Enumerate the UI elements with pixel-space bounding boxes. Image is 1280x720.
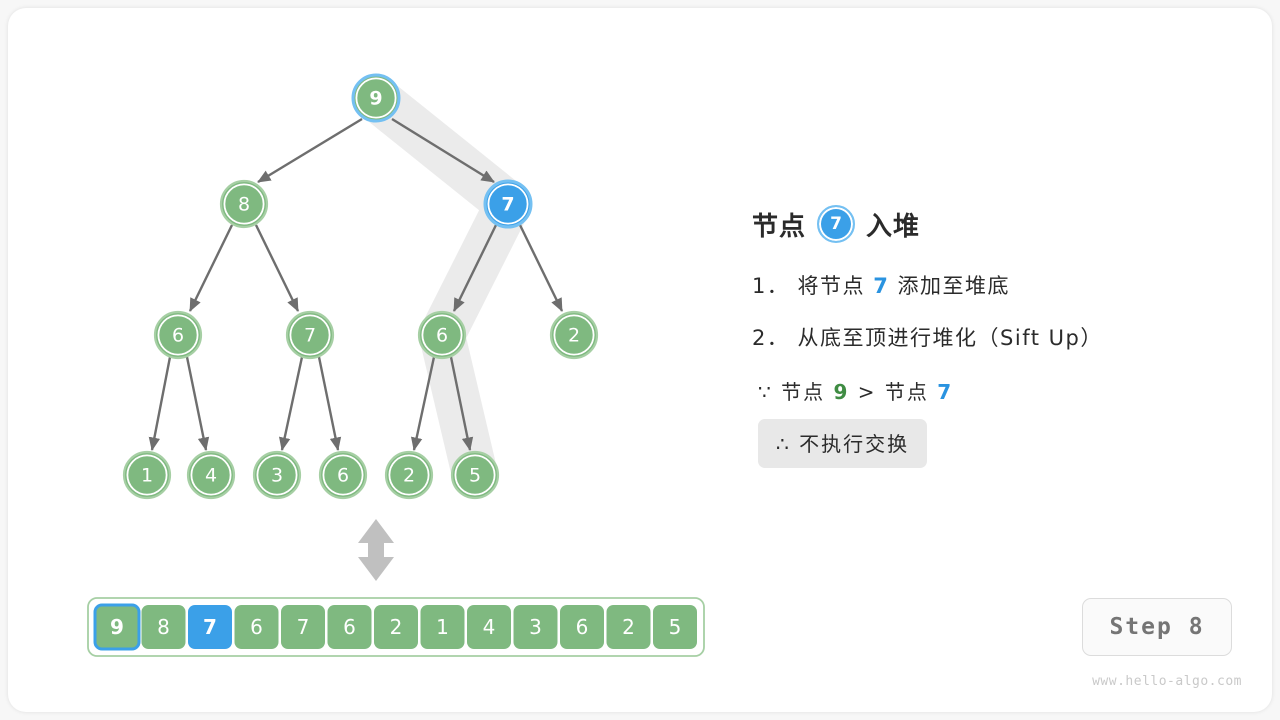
array-cell[interactable]: 9 <box>95 605 139 649</box>
tree-edge <box>256 225 298 311</box>
array-cell-value: 6 <box>576 615 589 639</box>
tree-node[interactable]: 1 <box>124 452 170 498</box>
reason-label-a: 节点 <box>781 380 825 404</box>
array-cell-value: 9 <box>110 615 124 639</box>
tree-node-value: 5 <box>469 465 481 487</box>
array-cell[interactable]: 8 <box>142 605 186 649</box>
tree-node-value: 1 <box>141 465 153 487</box>
step-1-line: 1． 将节点 7 添加至堆底 <box>752 270 1222 300</box>
array-cell[interactable]: 1 <box>421 605 465 649</box>
array-cell[interactable]: 6 <box>235 605 279 649</box>
sift-up-highlight-path <box>376 98 508 475</box>
conclusion-symbol: ∴ <box>776 432 791 456</box>
array-cell-value: 2 <box>390 615 403 639</box>
tree-nodes: 9876762143625 <box>124 75 597 498</box>
tree-node[interactable]: 8 <box>221 181 267 227</box>
array-cell[interactable]: 6 <box>560 605 604 649</box>
array-cell[interactable]: 3 <box>514 605 558 649</box>
tree-node[interactable]: 6 <box>155 312 201 358</box>
tree-node-value: 8 <box>238 194 250 216</box>
array-cell-value: 6 <box>343 615 356 639</box>
tree-node-value: 3 <box>271 465 283 487</box>
tree-node[interactable]: 5 <box>452 452 498 498</box>
step-2-line: 2． 从底至顶进行堆化（Sift Up） <box>752 322 1222 352</box>
step-1-value: 7 <box>873 274 889 298</box>
array-cell[interactable]: 2 <box>374 605 418 649</box>
step-1-suffix: 添加至堆底 <box>898 274 1011 298</box>
reason-value-a: 9 <box>833 380 849 404</box>
panel-title-prefix: 节点 <box>752 206 806 243</box>
array-representation: 9876762143625 <box>88 598 704 656</box>
tree-node-value: 6 <box>436 325 448 347</box>
vertical-double-arrow-icon <box>358 519 394 581</box>
tree-edge <box>152 357 170 450</box>
tree-edge <box>414 357 434 450</box>
reason-label-b: 节点 <box>885 380 929 404</box>
array-cell-value: 8 <box>157 615 170 639</box>
tree-node[interactable]: 7 <box>287 312 333 358</box>
tree-edge <box>258 119 362 182</box>
tree-node-value: 4 <box>205 465 217 487</box>
panel-title-node-badge: 7 <box>817 205 855 243</box>
tree-node[interactable]: 3 <box>254 452 300 498</box>
tree-node-value: 7 <box>501 194 514 216</box>
array-cell[interactable]: 7 <box>188 605 232 649</box>
tree-node-value: 9 <box>369 88 382 110</box>
tree-edge <box>187 357 206 450</box>
array-cell-value: 7 <box>297 615 310 639</box>
tree-node[interactable]: 7 <box>485 181 531 227</box>
array-cell-value: 3 <box>529 615 542 639</box>
tree-node-value: 6 <box>337 465 349 487</box>
watermark: www.hello-algo.com <box>1070 674 1242 689</box>
tree-edge <box>520 225 562 311</box>
tree-edge <box>282 357 302 450</box>
tree-node[interactable]: 6 <box>320 452 366 498</box>
tree-edge <box>319 357 338 450</box>
explanation-panel: 节点 7 入堆 1． 将节点 7 添加至堆底 2． 从底至顶进行堆化（Sift … <box>752 200 1222 468</box>
tree-node[interactable]: 2 <box>386 452 432 498</box>
screenshot-root: 9876762143625 9876762143625 节点 7 入堆 1． 将… <box>0 0 1280 720</box>
array-cell-value: 5 <box>669 615 682 639</box>
array-cell-value: 6 <box>250 615 263 639</box>
reason-value-b: 7 <box>937 380 953 404</box>
array-cell-value: 4 <box>483 615 496 639</box>
array-cell[interactable]: 5 <box>653 605 697 649</box>
tree-node[interactable]: 4 <box>188 452 234 498</box>
step-1-prefix: 1． 将节点 <box>752 274 865 298</box>
array-cell-value: 2 <box>622 615 635 639</box>
tree-node-value: 2 <box>568 325 580 347</box>
reason-symbol: ∵ <box>758 380 773 404</box>
array-cell-value: 1 <box>436 615 449 639</box>
array-cell[interactable]: 6 <box>328 605 372 649</box>
array-cell[interactable]: 7 <box>281 605 325 649</box>
tree-node-value: 6 <box>172 325 184 347</box>
conclusion-box: ∴ 不执行交换 <box>758 419 927 468</box>
array-cell-value: 7 <box>203 615 217 639</box>
panel-title: 节点 7 入堆 <box>752 200 1222 248</box>
tree-edge <box>190 225 232 311</box>
reason-operator: > <box>858 380 877 404</box>
tree-node-value: 7 <box>304 325 316 347</box>
conclusion-text: 不执行交换 <box>799 432 909 456</box>
array-cell[interactable]: 4 <box>467 605 511 649</box>
array-cell[interactable]: 2 <box>607 605 651 649</box>
tree-node[interactable]: 2 <box>551 312 597 358</box>
tree-node-value: 2 <box>403 465 415 487</box>
step-badge: Step 8 <box>1082 598 1232 656</box>
panel-title-suffix: 入堆 <box>866 206 920 243</box>
tree-node[interactable]: 9 <box>353 75 399 121</box>
reason-line: ∵ 节点 9 > 节点 7 <box>758 376 1222 405</box>
tree-node[interactable]: 6 <box>419 312 465 358</box>
